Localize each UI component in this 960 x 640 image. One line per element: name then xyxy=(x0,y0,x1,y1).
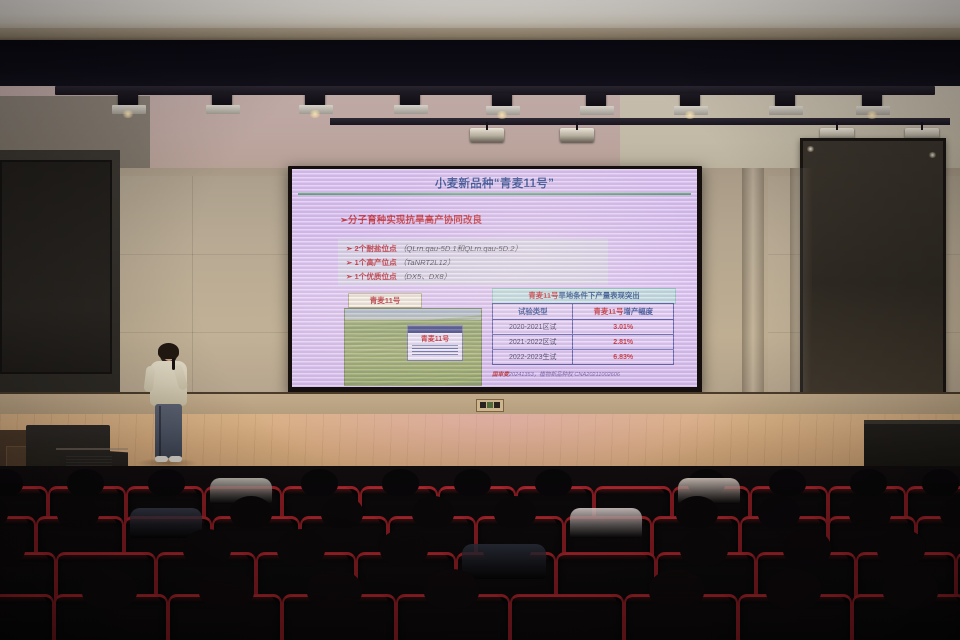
footnote-rest: 20241353，植物新品种权 CNA20211002606 xyxy=(509,372,620,378)
stage-light-icon xyxy=(775,93,795,107)
outlet-socket-right xyxy=(494,402,500,408)
left-acoustic-panel-icon xyxy=(0,160,112,374)
row-value-1: 3.01% xyxy=(573,320,674,335)
wheat-field-photo: 青麦11号 xyxy=(344,308,482,386)
panel-light-right-icon xyxy=(928,152,937,158)
seat-highlight xyxy=(597,487,665,499)
audience-head xyxy=(307,569,362,609)
lighting-truss-secondary xyxy=(330,118,950,125)
table-caption-rest: 旱地条件下产量表现突出 xyxy=(558,291,639,300)
row-value-2: 2.81% xyxy=(573,335,674,350)
fresnel-light-icon xyxy=(470,128,504,142)
stage-light-glow xyxy=(866,111,878,119)
row-type-3: 2022-2023生试 xyxy=(493,350,573,365)
audience-head xyxy=(380,529,428,566)
seat-highlight xyxy=(513,595,617,607)
stage-light-barndoor xyxy=(769,106,803,115)
slide-title-rule xyxy=(298,193,691,195)
row-value-3: 6.83% xyxy=(573,350,674,365)
row-type-1: 2020-2021区试 xyxy=(493,320,573,335)
audience-head xyxy=(883,569,938,609)
table-row: 2022-2023生试 6.83% xyxy=(493,350,674,365)
audience-head xyxy=(849,496,891,528)
seat-highlight xyxy=(0,595,47,607)
slide-bullet-1: ➢ 2个耐盐位点 （QLrn.qau-5D.1和QLrn.qau-5D.2） xyxy=(346,243,522,254)
panel-light-left-icon xyxy=(806,146,815,152)
table-footnote: 国审麦20241353，植物新品种权 CNA20211002606 xyxy=(492,370,692,378)
audience-head xyxy=(412,496,454,528)
slide-title: 小麦新品种“青麦11号” xyxy=(292,175,697,191)
audience-head xyxy=(649,569,704,609)
stage-light-barndoor xyxy=(206,105,240,114)
outlet-socket-mid xyxy=(487,402,493,408)
table-caption: 青麦11号旱地条件下产量表现突出 xyxy=(492,288,676,304)
stage-light-icon xyxy=(492,93,512,107)
bullet-label-1: 2个耐盐位点 xyxy=(355,244,397,253)
col-gain-prefix: 青麦11号 xyxy=(593,307,623,316)
yield-table-head: 试验类型 青麦11号增产幅度 xyxy=(493,304,674,320)
presenter-shoe-right xyxy=(169,456,182,462)
audience-head xyxy=(769,469,806,496)
stage-light-barndoor xyxy=(394,105,428,114)
yield-table-body: 2020-2021区试 3.01% 2021-2022区试 2.81% 2022… xyxy=(493,320,674,365)
stage-light-barndoor xyxy=(580,106,614,115)
stage-light-glow xyxy=(309,110,321,118)
audience-coat xyxy=(462,544,546,579)
audience-head xyxy=(277,529,325,566)
bullet-label-2: 1个高产位点 xyxy=(355,258,397,267)
audience-head xyxy=(454,469,491,496)
col-gain-rest: 增产幅度 xyxy=(623,307,653,316)
audience-head xyxy=(67,469,104,496)
wall-pillar-a xyxy=(742,168,764,408)
seat-highlight xyxy=(59,553,149,565)
field-sign-text-lines xyxy=(412,345,458,357)
presentation-slide: 小麦新品种“青麦11号” ➢分子育种实现抗旱高产协同改良 ➢ 2个耐盐位点 （Q… xyxy=(292,169,697,387)
audience-head xyxy=(424,569,479,609)
field-sign-name: 青麦11号 xyxy=(408,334,462,344)
fresnel-yoke xyxy=(836,122,838,130)
audience-head xyxy=(680,529,728,566)
right-acoustic-panel-icon xyxy=(800,138,946,402)
projection-screen[interactable]: 小麦新品种“青麦11号” ➢分子育种实现抗旱高产协同改良 ➢ 2个耐盐位点 （Q… xyxy=(292,169,697,387)
row-type-2: 2021-2022区试 xyxy=(493,335,573,350)
wall-tile xyxy=(192,176,289,255)
floor-power-panel xyxy=(476,399,504,412)
auditorium-scene: 小麦新品种“青麦11号” ➢分子育种实现抗旱高产协同改良 ➢ 2个耐盐位点 （Q… xyxy=(0,0,960,640)
audience-head xyxy=(230,496,272,528)
audience-head xyxy=(321,496,363,528)
ceiling-dark-band xyxy=(0,40,960,88)
presenter-leg-split xyxy=(159,406,161,456)
presenter-shoe-left xyxy=(155,456,168,462)
yield-table: 试验类型 青麦11号增产幅度 2020-2021区试 3.01% 2021-20… xyxy=(492,303,674,365)
audience-head xyxy=(535,469,572,496)
slide-heading: ➢分子育种实现抗旱高产协同改良 xyxy=(340,212,482,226)
stage-light-icon xyxy=(862,93,882,107)
fresnel-yoke xyxy=(576,122,578,130)
ceiling-light-cove xyxy=(0,0,960,30)
bullet-detail-2: （TaNRT2L12） xyxy=(399,258,455,267)
table-caption-prefix: 青麦11号 xyxy=(528,291,558,300)
seat-highlight xyxy=(559,553,649,565)
footnote-prefix: 国审麦 xyxy=(492,372,509,378)
table-row: 2021-2022区试 2.81% xyxy=(493,335,674,350)
stage-light-glow xyxy=(496,111,508,119)
slide-bullet-2: ➢ 1个高产位点 （TaNRT2L12） xyxy=(346,257,455,268)
stage-light-icon xyxy=(586,93,606,107)
audience-head xyxy=(301,469,338,496)
wall-pillar-b xyxy=(790,168,812,408)
audience-head xyxy=(494,496,536,528)
photo-caption-badge: 青麦11号 xyxy=(348,293,422,308)
table-row: 2020-2021区试 3.01% xyxy=(493,320,674,335)
fresnel-light-icon xyxy=(560,128,594,142)
audience-head xyxy=(783,529,831,566)
presenter-hair xyxy=(158,343,179,359)
stage-light-glow xyxy=(684,111,696,119)
stage-light-icon xyxy=(680,93,700,107)
audience-head xyxy=(382,469,419,496)
fresnel-yoke xyxy=(921,122,923,130)
stage-light-icon xyxy=(400,92,420,106)
audience-head xyxy=(676,496,718,528)
field-sign: 青麦11号 xyxy=(407,325,463,361)
audience-head xyxy=(199,569,254,609)
bullet-marker-3: ➢ xyxy=(346,272,352,281)
slide-bullet-3: ➢ 1个优质位点 （DX5、DX8） xyxy=(346,271,451,282)
audience-head xyxy=(922,469,959,496)
outlet-socket-left xyxy=(480,402,486,408)
stage-light-icon xyxy=(212,92,232,106)
fresnel-yoke xyxy=(486,122,488,130)
audience-head xyxy=(758,496,800,528)
presenter xyxy=(146,344,192,464)
bullet-marker-1: ➢ xyxy=(346,244,352,253)
bullet-detail-3: （DX5、DX8） xyxy=(399,272,451,281)
audience-head xyxy=(82,569,137,609)
audience-head xyxy=(183,529,231,566)
bullet-label-3: 1个优质位点 xyxy=(355,272,397,281)
audience-head xyxy=(877,529,925,566)
stage-light-glow xyxy=(122,110,134,118)
table-header-row: 试验类型 青麦11号增产幅度 xyxy=(493,304,674,320)
audience-head xyxy=(850,469,887,496)
table-col-type: 试验类型 xyxy=(493,304,573,320)
audience-head xyxy=(766,569,821,609)
bullet-detail-1: （QLrn.qau-5D.1和QLrn.qau-5D.2） xyxy=(399,244,522,253)
bullet-marker-2: ➢ xyxy=(346,258,352,267)
wall-tile xyxy=(192,254,289,333)
stage-light-icon xyxy=(305,92,325,106)
field-sign-header xyxy=(408,326,462,333)
table-col-gain: 青麦11号增产幅度 xyxy=(573,304,674,320)
audience-head xyxy=(148,469,185,496)
audience-coat xyxy=(570,508,642,538)
speaker-top-edge xyxy=(56,448,128,450)
microphone-icon xyxy=(172,358,175,370)
stage-light-icon xyxy=(118,92,138,106)
audience-head xyxy=(57,496,99,528)
